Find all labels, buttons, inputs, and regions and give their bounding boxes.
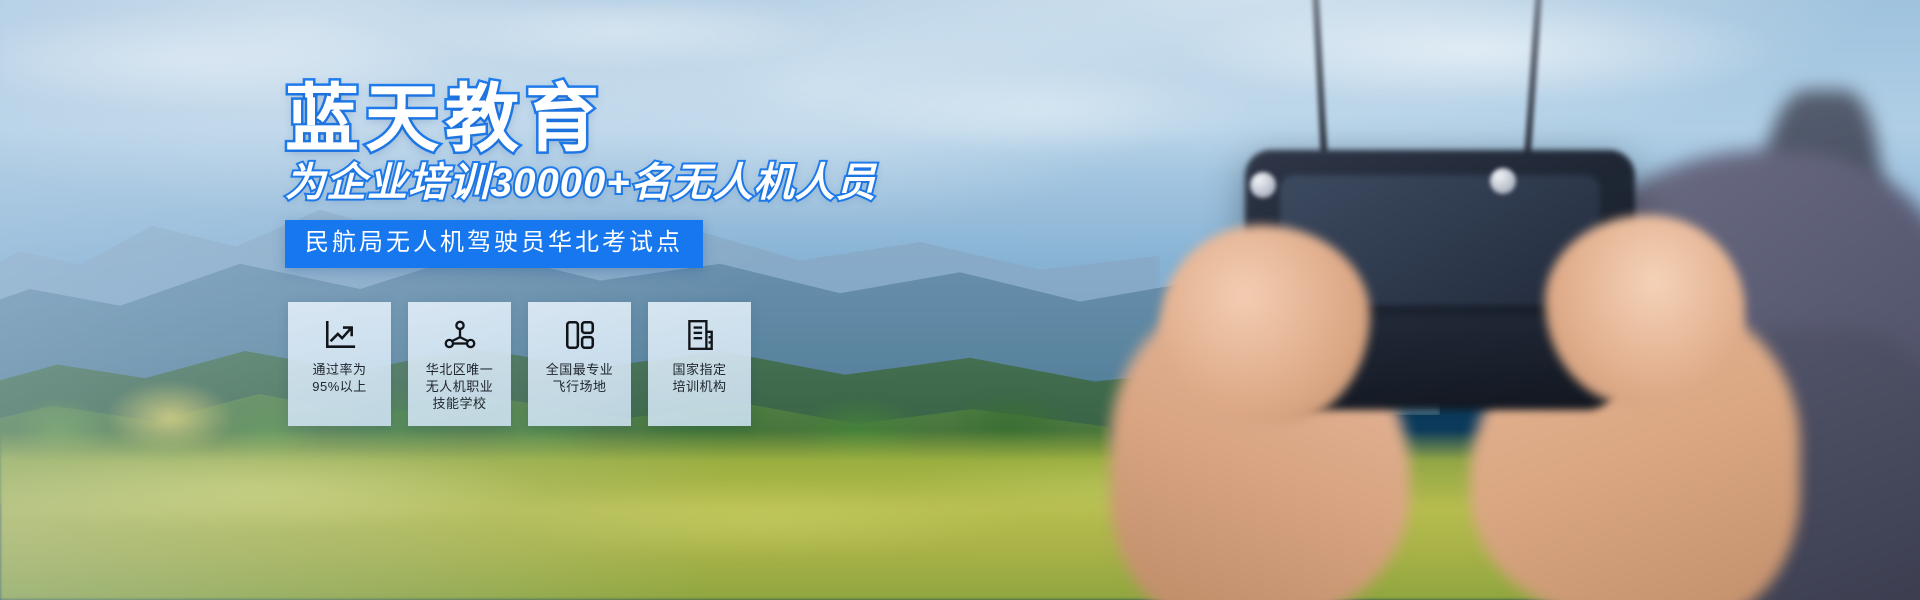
feature-line: 技能学校 bbox=[426, 395, 494, 412]
feature-line: 国家指定 bbox=[672, 361, 726, 378]
layout-panels-icon bbox=[563, 318, 597, 352]
chart-up-icon bbox=[323, 318, 357, 352]
feature-line: 95%以上 bbox=[312, 378, 367, 395]
banner-subtitle: 为企业培训30000+名无人机人员 bbox=[285, 163, 877, 203]
network-nodes-icon bbox=[443, 318, 477, 352]
building-icon bbox=[683, 318, 717, 352]
feature-card-national-institution[interactable]: 国家指定 培训机构 bbox=[648, 302, 751, 426]
feature-card-text: 国家指定 培训机构 bbox=[672, 361, 726, 395]
feature-card-text: 华北区唯一 无人机职业 技能学校 bbox=[426, 361, 494, 412]
feature-line: 培训机构 bbox=[672, 378, 726, 395]
feature-card-pass-rate[interactable]: 通过率为 95%以上 bbox=[288, 302, 391, 426]
feature-card-text: 全国最专业 飞行场地 bbox=[546, 361, 614, 395]
feature-line: 通过率为 bbox=[312, 361, 367, 378]
exam-center-badge: 民航局无人机驾驶员华北考试点 bbox=[285, 220, 703, 268]
feature-line: 华北区唯一 bbox=[426, 361, 494, 378]
feature-line: 无人机职业 bbox=[426, 378, 494, 395]
feature-line: 飞行场地 bbox=[546, 378, 614, 395]
feature-card-text: 通过率为 95%以上 bbox=[312, 361, 367, 395]
banner-content: 蓝天教育 为企业培训30000+名无人机人员 民航局无人机驾驶员华北考试点 通过… bbox=[0, 0, 1920, 600]
feature-card-vocational-school[interactable]: 华北区唯一 无人机职业 技能学校 bbox=[408, 302, 511, 426]
feature-line: 全国最专业 bbox=[546, 361, 614, 378]
banner-title: 蓝天教育 bbox=[285, 82, 605, 156]
feature-card-flight-field[interactable]: 全国最专业 飞行场地 bbox=[528, 302, 631, 426]
feature-card-list: 通过率为 95%以上 bbox=[288, 302, 751, 426]
hero-banner: 蓝天教育 为企业培训30000+名无人机人员 民航局无人机驾驶员华北考试点 通过… bbox=[0, 0, 1920, 600]
